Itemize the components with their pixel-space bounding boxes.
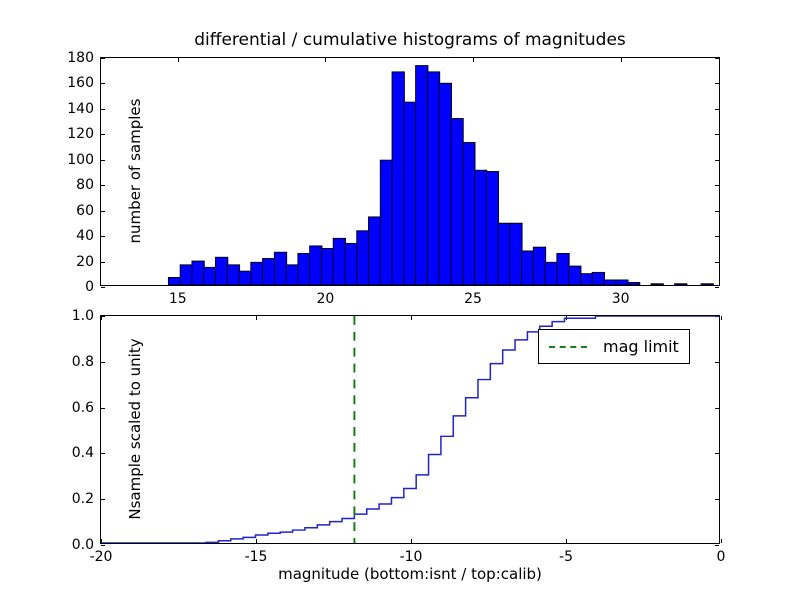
y-tick-label: 180 — [67, 50, 94, 66]
histogram-bar — [439, 83, 451, 285]
histogram-bar — [239, 271, 251, 285]
x-tick-label: 20 — [316, 291, 334, 307]
histogram-bar — [251, 262, 263, 285]
y-tick-label: 0.2 — [72, 491, 94, 507]
x-tick-label: 0 — [717, 549, 726, 565]
histogram-bar — [204, 267, 216, 285]
histogram-bar — [369, 217, 381, 285]
histogram-bar — [651, 284, 663, 285]
histogram-bar — [592, 272, 604, 285]
figure-canvas: differential / cumulative histograms of … — [0, 0, 800, 600]
y-tick-mark — [101, 545, 105, 546]
histogram-bar — [627, 282, 639, 285]
y-tick-label: 40 — [76, 228, 94, 244]
figure-title: differential / cumulative histograms of … — [100, 30, 720, 50]
histogram-bar — [192, 261, 204, 285]
y-tick-label: 1.0 — [72, 308, 94, 324]
histogram-bar — [474, 170, 486, 285]
histogram-bar — [522, 251, 534, 285]
histogram-bar — [675, 284, 687, 285]
histogram-bar — [310, 246, 322, 285]
top-panel-axes: number of samples 0204060801001201401601… — [100, 57, 720, 286]
histogram-bar — [557, 253, 569, 285]
y-tick-mark — [715, 545, 719, 546]
y-tick-label: 100 — [67, 152, 94, 168]
x-tick-label: -10 — [400, 549, 423, 565]
histogram-bar — [463, 142, 475, 285]
y-tick-mark — [715, 287, 719, 288]
histogram-bar — [533, 247, 545, 285]
histogram-bar — [286, 265, 298, 285]
histogram-bar — [545, 262, 557, 285]
histogram-bar — [263, 259, 275, 285]
histogram-plot — [101, 58, 719, 285]
y-tick-label: 20 — [76, 254, 94, 270]
histogram-bar — [427, 72, 439, 285]
y-tick-label: 80 — [76, 177, 94, 193]
x-tick-mark — [721, 316, 722, 320]
y-tick-mark — [101, 287, 105, 288]
histogram-bar — [569, 266, 581, 285]
histogram-bar — [274, 252, 286, 285]
histogram-bar — [416, 66, 428, 285]
mag-limit-line-swatch — [549, 346, 587, 348]
y-tick-label: 140 — [67, 101, 94, 117]
histogram-bar — [215, 257, 227, 285]
x-tick-label: -20 — [90, 549, 113, 565]
bottom-panel-axes: Nsample scaled to unity 0.00.20.40.60.81… — [100, 315, 720, 544]
y-tick-label: 60 — [76, 203, 94, 219]
histogram-bar — [180, 265, 192, 285]
x-tick-label: 25 — [464, 291, 482, 307]
y-tick-label: 0.6 — [72, 400, 94, 416]
histogram-bar — [321, 248, 333, 285]
y-tick-label: 160 — [67, 75, 94, 91]
histogram-bar — [227, 265, 239, 285]
histogram-bar — [380, 160, 392, 285]
histogram-bar — [404, 102, 416, 285]
figure-xlabel: magnitude (bottom:isnt / top:calib) — [100, 565, 720, 583]
histogram-bar — [451, 119, 463, 285]
x-tick-label: 15 — [169, 291, 187, 307]
histogram-bar — [510, 223, 522, 285]
histogram-bar — [168, 277, 180, 285]
histogram-bar — [392, 72, 404, 285]
y-tick-label: 0.4 — [72, 445, 94, 461]
histogram-bar — [345, 243, 357, 285]
x-tick-label: -5 — [559, 549, 573, 565]
legend-box: mag limit — [538, 329, 690, 364]
histogram-bar — [357, 231, 369, 285]
histogram-bar — [616, 280, 628, 285]
histogram-bar — [498, 223, 510, 285]
histogram-bar — [701, 284, 713, 285]
x-tick-mark — [721, 539, 722, 543]
histogram-bar — [580, 274, 592, 285]
histogram-bar — [604, 280, 616, 285]
histogram-bar — [298, 253, 310, 285]
histogram-bar — [333, 238, 345, 285]
legend-item-label: mag limit — [603, 337, 679, 356]
histogram-bar — [486, 172, 498, 286]
y-tick-label: 0 — [85, 279, 94, 295]
y-tick-label: 120 — [67, 126, 94, 142]
x-tick-label: -15 — [245, 549, 268, 565]
y-tick-label: 0.8 — [72, 354, 94, 370]
x-tick-label: 30 — [612, 291, 630, 307]
